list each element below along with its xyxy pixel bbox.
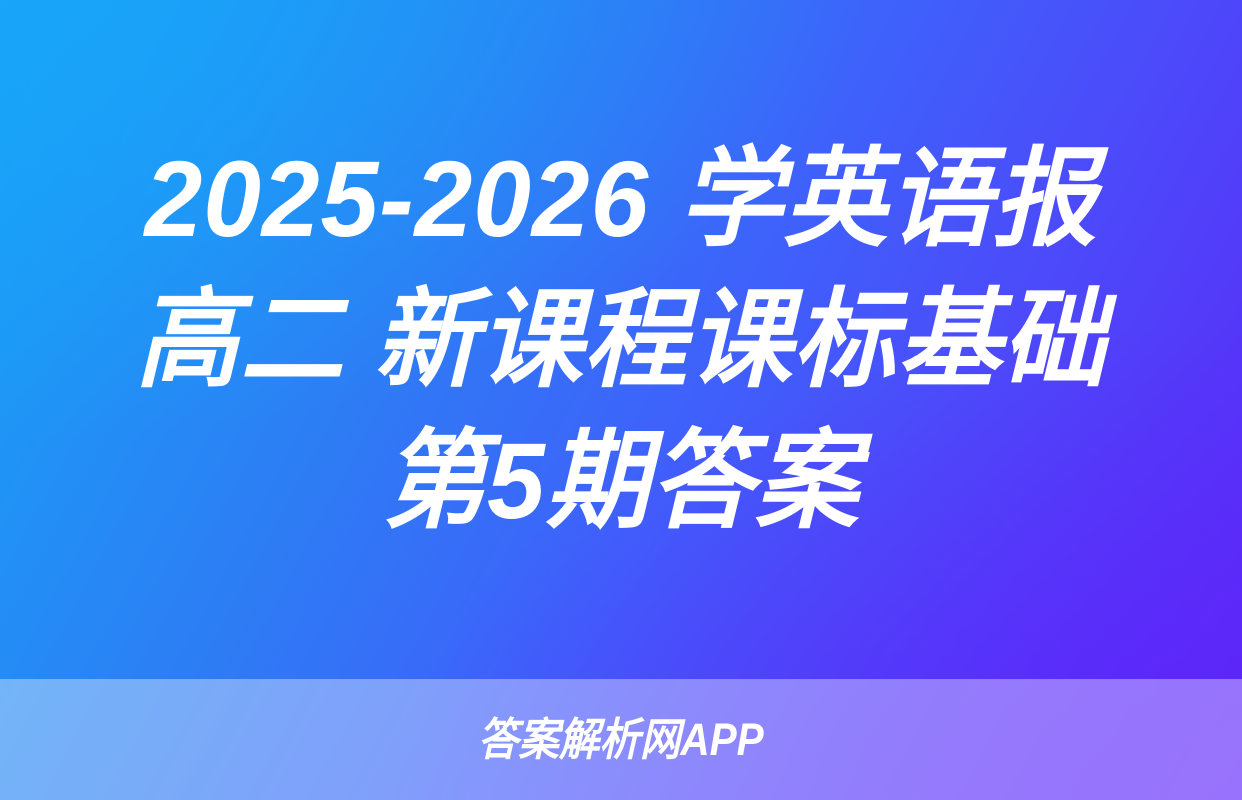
cover-canvas: 2025-2026 学英语报 高二 新课程课标基础 第5期答案 答案解析网APP	[0, 0, 1242, 800]
footer-brand-label: 答案解析网APP	[478, 716, 764, 764]
title-block: 2025-2026 学英语报 高二 新课程课标基础 第5期答案	[0, 0, 1242, 679]
footer-brand-band: 答案解析网APP	[0, 679, 1242, 800]
page-title: 2025-2026 学英语报 高二 新课程课标基础 第5期答案	[88, 128, 1154, 551]
